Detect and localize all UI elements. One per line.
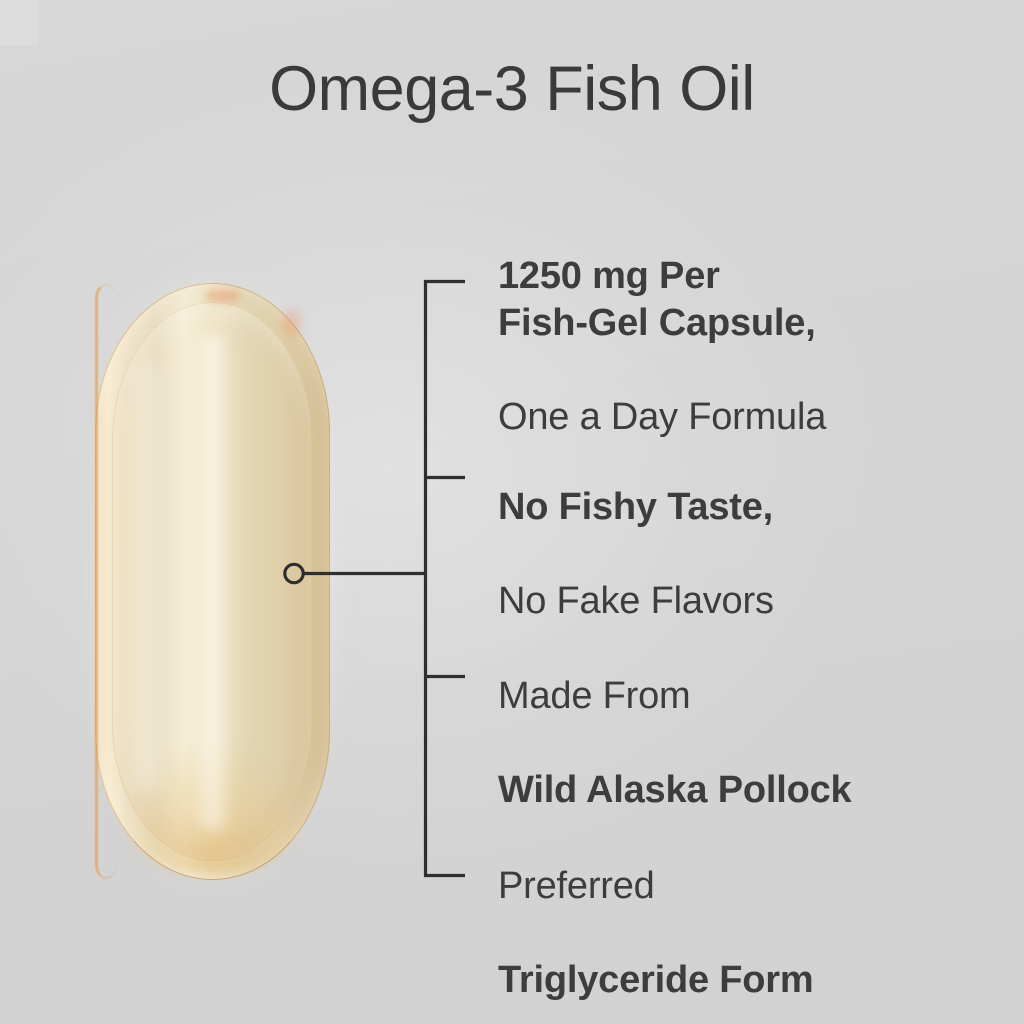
- callout-3-bold: Wild Alaska Pollock: [498, 767, 851, 814]
- capsule-outline: [95, 283, 330, 880]
- callout-4-regular: Preferred: [498, 863, 813, 910]
- capsule-image: [88, 276, 340, 888]
- corner-patch: [0, 0, 38, 45]
- callout-2-bold: No Fishy Taste,: [498, 484, 774, 531]
- capsule-fleck-secondary: [284, 310, 300, 336]
- infographic-canvas: Omega-3 Fish Oil: [0, 0, 1024, 1024]
- callout-1-bold: 1250 mg Per Fish-Gel Capsule,: [498, 253, 826, 347]
- callout-2-regular: No Fake Flavors: [498, 578, 774, 625]
- callout-4-bold: Triglyceride Form: [498, 957, 813, 1004]
- callout-1-regular: One a Day Formula: [498, 394, 826, 441]
- page-title: Omega-3 Fish Oil: [0, 58, 1024, 121]
- callout-3-regular: Made From: [498, 673, 851, 720]
- callout-4: Preferred Triglyceride Form: [498, 816, 813, 1024]
- capsule-fleck: [206, 290, 240, 302]
